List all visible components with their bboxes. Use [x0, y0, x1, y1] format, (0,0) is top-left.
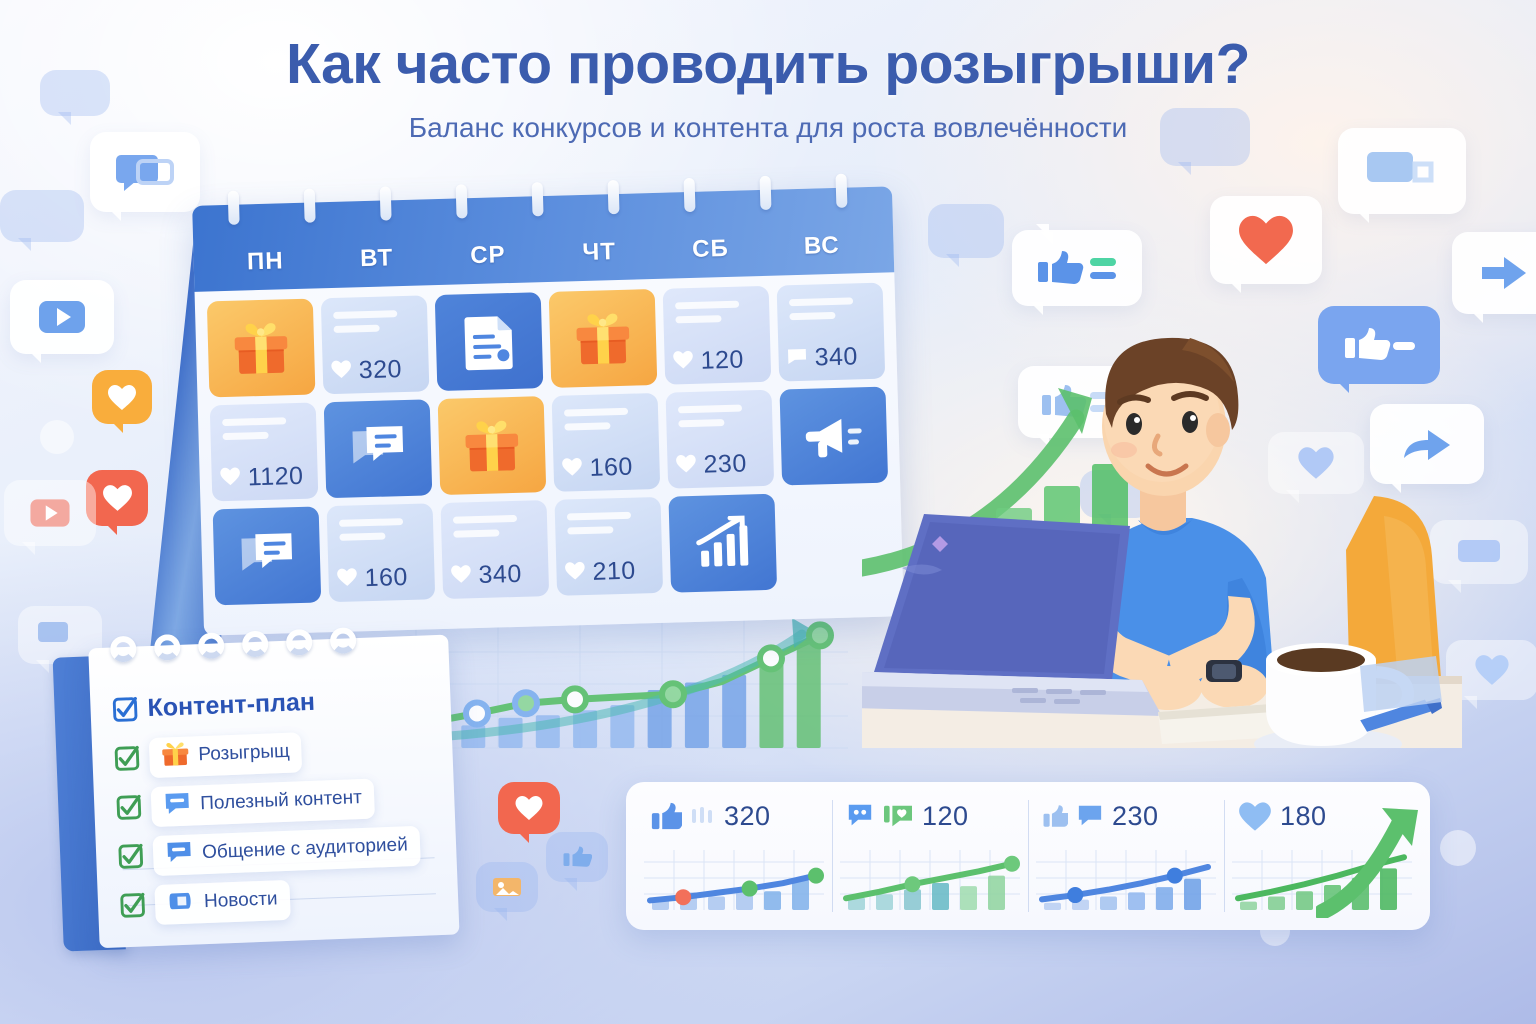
calendar-cell[interactable] [207, 299, 316, 398]
chart-marker [904, 876, 920, 892]
calendar-cell[interactable]: 1120 [210, 402, 319, 501]
heart-icon [219, 466, 241, 486]
chart-marker [662, 683, 684, 705]
chart-bar [1380, 868, 1397, 910]
checkbox-checked-icon[interactable] [120, 892, 146, 918]
content-plan-notepad: Контент-план Розыгрыщ Полезный контент О… [52, 628, 464, 961]
content-plan-item-label: Новости [204, 888, 278, 913]
heart-icon [450, 564, 472, 584]
calendar-cell[interactable]: 210 [554, 497, 663, 596]
engagement-count: 160 [589, 453, 633, 483]
speaker-icon [167, 887, 196, 919]
engagement-count: 210 [592, 557, 636, 587]
activity-bars-icon [690, 805, 716, 827]
calendar-ring [835, 174, 847, 208]
content-plan-item-pill: Общение с аудиторией [152, 825, 420, 875]
calendar-weekday-3: СР [432, 240, 544, 271]
chat-icon [237, 529, 296, 583]
heart-icon [498, 782, 560, 834]
calendar-weekday-2: ВТ [321, 243, 433, 274]
engagement-count: 230 [703, 449, 747, 479]
video-play-icon [10, 280, 114, 354]
checkbox-checked-icon [118, 843, 144, 869]
notepad-sheet: Контент-план Розыгрыщ Полезный контент О… [88, 635, 459, 949]
content-plan-item-label: Общение с аудиторией [202, 834, 408, 864]
bar-chart-icon [692, 515, 753, 571]
stat-value: 120 [922, 801, 969, 832]
calendar-grid: 320 120 340 1120 [207, 283, 891, 606]
comment-icon [786, 346, 808, 371]
stat-header: 230 [1036, 794, 1216, 838]
calendar-cell[interactable] [438, 396, 547, 495]
content-plan-item-pill: Новости [154, 879, 290, 924]
chart-bar [1324, 885, 1341, 910]
chart-bar [1184, 879, 1201, 910]
heart-icon [336, 567, 358, 592]
chart-bar [1352, 878, 1369, 910]
chart-marker [675, 889, 691, 905]
post-placeholder-lines [564, 407, 647, 437]
post-placeholder-lines [453, 514, 536, 544]
chart-marker [1067, 887, 1083, 903]
calendar-ring [532, 182, 544, 216]
person-at-laptop-illustration [862, 268, 1462, 748]
stat-header: 120 [840, 794, 1020, 838]
image-icon [476, 862, 538, 912]
gift-icon [461, 415, 523, 477]
content-plan-item-label: Розыгрыщ [198, 741, 290, 766]
calendar-weekday-5: СБ [654, 234, 766, 265]
stat-header: 180 [1232, 794, 1412, 838]
page-subtitle: Баланс конкурсов и контента для роста во… [0, 112, 1536, 144]
content-plan-list: Контент-план Розыгрыщ Полезный контент О… [112, 673, 449, 930]
chart-bar [932, 883, 949, 910]
gift-icon [230, 317, 292, 379]
stat-sparkline [1232, 846, 1412, 916]
megaphone-icon [801, 410, 866, 462]
stat-header: 320 [644, 794, 824, 838]
heart-icon [330, 359, 352, 384]
heart-icon [672, 349, 694, 374]
heart-icon [672, 349, 694, 369]
chart-bar [1296, 891, 1313, 910]
content-calendar: ПНВТСРЧТСБВС 320 [140, 196, 900, 666]
stat-sparkline [644, 846, 824, 916]
chart-bar [1240, 902, 1257, 910]
comment-icon [0, 190, 84, 242]
stat-card[interactable]: 230 [1028, 794, 1224, 920]
video-play-icon [4, 480, 96, 546]
stat-card[interactable]: 320 [636, 794, 832, 920]
calendar-cell[interactable] [324, 399, 433, 498]
calendar-body: ПНВТСРЧТСБВС 320 [192, 186, 904, 635]
checkbox-checked-icon[interactable] [116, 794, 142, 820]
document-icon [461, 312, 517, 371]
calendar-cell[interactable]: 160 [327, 503, 436, 602]
post-placeholder-lines [678, 404, 761, 434]
chart-marker [564, 688, 586, 710]
gift-icon [161, 740, 190, 772]
chart-bar [1268, 896, 1285, 910]
speaker-icon [167, 887, 196, 914]
infographic-canvas: Как часто проводить розыгрыши? Баланс ко… [0, 0, 1536, 1024]
post-placeholder-lines [333, 310, 416, 340]
chart-bar [1044, 903, 1061, 910]
page-title: Как часто проводить розыгрыши? [0, 34, 1536, 96]
checkbox-checked-icon[interactable] [118, 843, 144, 869]
calendar-cell[interactable] [549, 289, 658, 388]
calendar-ring [456, 184, 468, 218]
thumbs-up-icon [650, 800, 682, 832]
calendar-cell[interactable] [213, 506, 322, 605]
heart-icon [330, 359, 352, 379]
calendar-cell[interactable] [668, 494, 777, 593]
engagement-stats-bar: 320 120 230 180 [626, 782, 1430, 930]
post-placeholder-lines [567, 511, 650, 541]
engagement-count: 120 [700, 346, 744, 376]
engagement-count: 340 [814, 342, 858, 372]
heart-icon [450, 564, 472, 589]
comment-icon [786, 346, 808, 366]
post-placeholder-lines [339, 518, 422, 548]
chart-bar [960, 886, 977, 910]
engagement-count: 320 [358, 355, 402, 385]
thumbs-up-icon [546, 832, 608, 882]
engagement-count: 1120 [247, 462, 304, 493]
calendar-cell[interactable]: 230 [666, 390, 775, 489]
calendar-cell[interactable]: 340 [441, 500, 550, 599]
calendar-ring [380, 186, 392, 220]
checkbox-checked-icon[interactable] [114, 746, 140, 772]
thumbs-up-icon [1042, 803, 1068, 829]
chart-bar [792, 880, 809, 910]
heart-icon [1238, 801, 1272, 832]
comment-icon [846, 802, 874, 830]
content-plan-item-label: Полезный контент [200, 787, 362, 815]
post-placeholder-lines [675, 300, 758, 330]
stat-value: 320 [724, 801, 771, 832]
chat-icon [163, 789, 192, 816]
heart-icon [675, 453, 697, 478]
chart-bar [1100, 896, 1117, 910]
calendar-ring [684, 178, 696, 212]
heart-icon [564, 561, 586, 581]
chart-marker [1004, 856, 1020, 872]
calendar-ring [608, 180, 620, 214]
heart-icon [675, 453, 697, 473]
heart-icon [561, 457, 583, 477]
chart-bar [708, 896, 725, 910]
chart-bar [904, 889, 921, 910]
chart-bar [988, 876, 1005, 910]
post-placeholder-lines [789, 297, 872, 327]
engagement-count: 160 [364, 563, 408, 593]
calendar-ring [304, 188, 316, 222]
heart-icon [561, 457, 583, 482]
stat-card[interactable]: 120 [832, 794, 1028, 920]
calendar-cell[interactable] [435, 292, 544, 391]
checkbox-checked-icon [112, 697, 138, 723]
stat-sparkline [840, 846, 1020, 916]
content-plan-title: Контент-план [147, 688, 315, 723]
chat-icon [348, 422, 407, 476]
calendar-cell[interactable]: 120 [663, 286, 772, 385]
calendar-weekday-6: ВС [766, 231, 878, 262]
calendar-cell[interactable]: 160 [552, 393, 661, 492]
comment-icon [165, 838, 194, 865]
chart-bar [876, 894, 893, 910]
engagement-count: 340 [478, 560, 522, 590]
heart-icon [336, 567, 358, 587]
calendar-weekday-4: ЧТ [543, 237, 655, 268]
content-plan-item-pill: Розыгрыщ [149, 732, 303, 778]
checkbox-checked-icon [120, 892, 146, 918]
stat-card[interactable]: 180 [1224, 794, 1420, 920]
gift-icon [572, 308, 634, 370]
stat-sparkline [1036, 846, 1216, 916]
comment-icon [928, 204, 1004, 258]
chart-marker [808, 868, 824, 884]
calendar-cell[interactable]: 320 [321, 295, 430, 394]
gift-icon [161, 740, 190, 767]
calendar-ring [760, 176, 772, 210]
chart-marker [515, 692, 537, 714]
content-plan-item-pill: Полезный контент [151, 778, 375, 827]
chart-bar [722, 675, 746, 748]
heart-icon [219, 466, 241, 491]
stat-value: 180 [1280, 801, 1327, 832]
chart-marker [1167, 868, 1183, 884]
laptop-icon [862, 514, 1162, 716]
chart-marker [466, 702, 488, 724]
checkbox-checked-icon [114, 746, 140, 772]
chart-marker [742, 881, 758, 897]
calendar-weekday-1: ПН [209, 246, 321, 277]
share-arrow-icon [1452, 232, 1536, 314]
chart-bar [764, 891, 781, 910]
header: Как часто проводить розыгрыши? Баланс ко… [0, 34, 1536, 144]
heart-icon [564, 561, 586, 586]
post-placeholder-lines [222, 417, 305, 447]
chart-bar [1128, 892, 1145, 910]
chart-bar [1156, 887, 1173, 910]
calendar-ring [228, 191, 240, 225]
comment-icon [1076, 803, 1104, 829]
stat-value: 230 [1112, 801, 1159, 832]
chat-icon [163, 789, 192, 821]
comment-like-icon [882, 802, 914, 830]
calendar-weekday-header: ПНВТСРЧТСБВС [192, 186, 894, 292]
checkbox-checked-icon [112, 697, 138, 723]
comment-icon [165, 838, 194, 870]
checkbox-checked-icon [116, 794, 142, 820]
